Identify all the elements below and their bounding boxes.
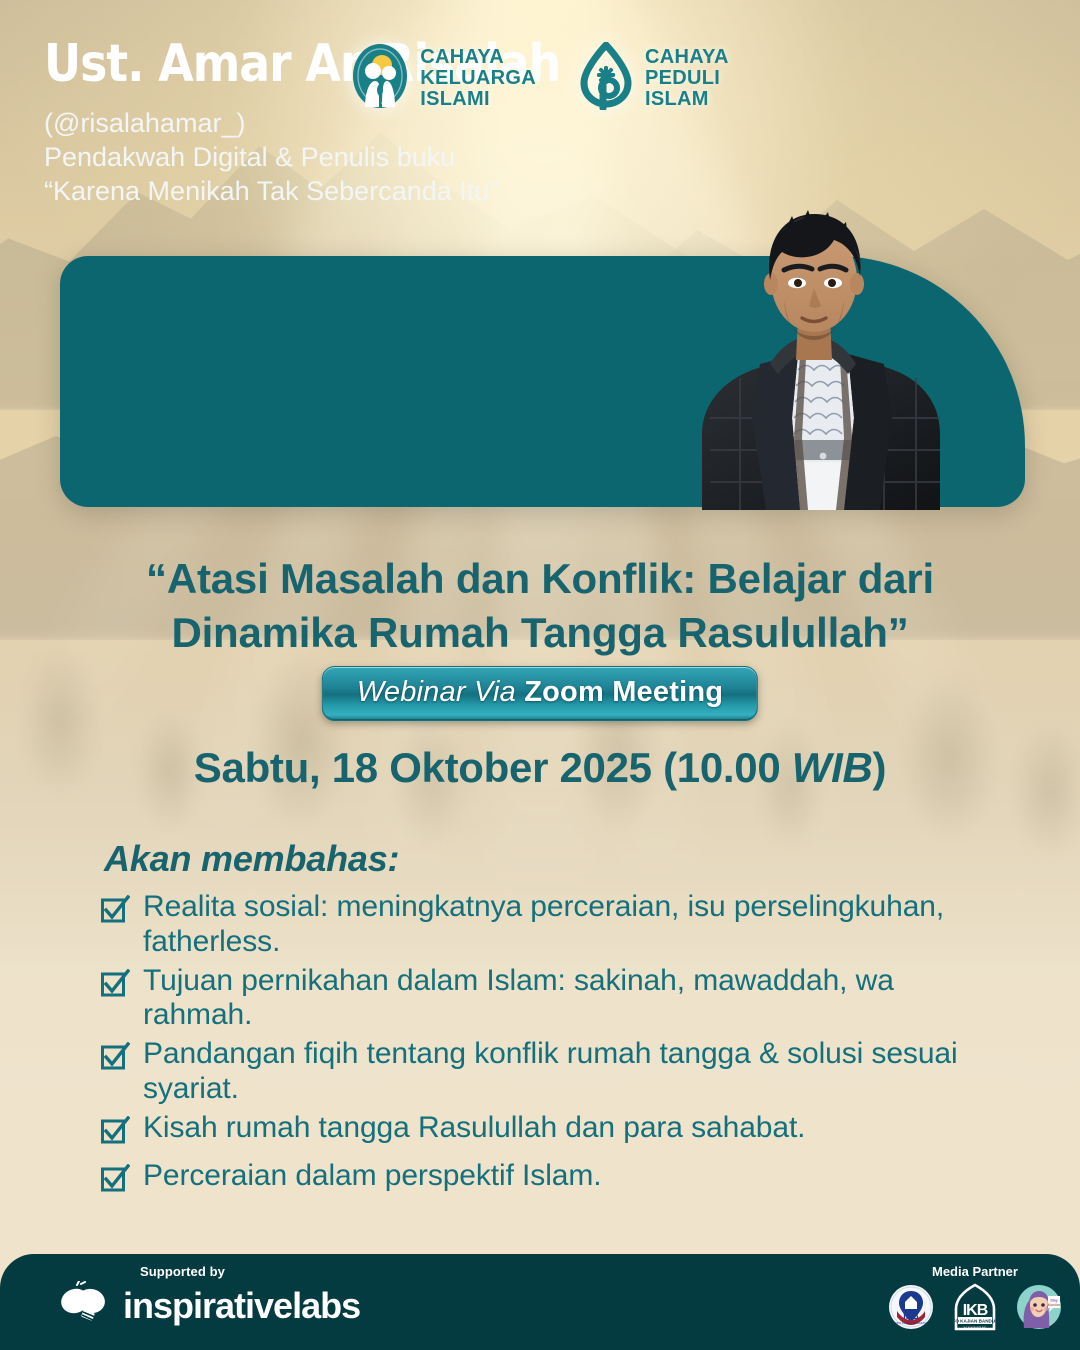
- supporter-brand: inspirativelabs: [55, 1281, 360, 1330]
- list-item: Perceraian dalam perspektif Islam.: [100, 1159, 1010, 1203]
- checkbox-checked-icon: [100, 969, 130, 1008]
- list-item: Pandangan fiqih tentang konflik rumah ta…: [100, 1037, 1010, 1107]
- supported-by-section: Supported by inspirativelabs: [55, 1264, 360, 1330]
- media-partner-logos: IKB INFO KAJIAN BANDUNG IKB INFO KAJIAN …: [888, 1283, 1062, 1336]
- checkbox-checked-icon: [100, 895, 130, 934]
- speaker-book-title: “Karena Menikah Tak Sebercanda Itu”: [44, 174, 644, 208]
- svg-text:IKB: IKB: [963, 1302, 988, 1319]
- agenda-heading: Akan membahas:: [104, 838, 399, 880]
- list-item: Tujuan pernikahan dalam Islam: sakinah, …: [100, 964, 1010, 1034]
- speaker-details: (@risalahamar_) Pendakwah Digital & Penu…: [44, 106, 644, 208]
- poster-root: CAHAYA KELUARGA ISLAMI: [0, 0, 1080, 1350]
- agenda-item-text: Kisah rumah tangga Rasulullah dan para s…: [143, 1111, 1010, 1146]
- header-logos: CAHAYA KELUARGA ISLAMI: [0, 42, 1080, 115]
- svg-text:KAJIAN BANDUNG: KAJIAN BANDUNG: [964, 1325, 987, 1329]
- media-partner-label: Media Partner: [932, 1264, 1018, 1279]
- supporter-name: inspirativelabs: [123, 1285, 360, 1327]
- webinar-platform-prefix: Webinar Via: [357, 676, 524, 708]
- svg-text:INFO KAJIAN BANDUNG: INFO KAJIAN BANDUNG: [948, 1319, 1003, 1324]
- logo-cahaya-keluarga-islami: CAHAYA KELUARGA ISLAMI: [351, 43, 536, 114]
- info-kajian-bandung-logo-icon: IKB INFO KAJIAN BANDUNG KAJIAN BANDUNG: [946, 1283, 1004, 1336]
- webinar-platform-name: Zoom Meeting: [524, 676, 723, 708]
- event-timezone: WIB: [792, 744, 873, 791]
- event-date-suffix: ): [873, 744, 887, 791]
- agenda-item-text: Perceraian dalam perspektif Islam.: [143, 1159, 1010, 1194]
- logo-cahaya-peduli-islam-text: CAHAYA PEDULI ISLAM: [645, 47, 729, 109]
- logo-line-2: KELUARGA: [420, 68, 536, 89]
- media-partner-section: Media Partner IKB INFO KAJIAN BANDUNG: [888, 1264, 1062, 1336]
- agenda-item-text: Tujuan pernikahan dalam Islam: sakinah, …: [143, 964, 1010, 1034]
- logo-cahaya-keluarga-islami-text: CAHAYA KELUARGA ISLAMI: [420, 47, 536, 109]
- svg-text:Stay: Stay: [1050, 1299, 1058, 1303]
- supported-by-label: Supported by: [140, 1264, 225, 1279]
- agenda-list: Realita sosial: meningkatnya perceraian,…: [100, 890, 1010, 1206]
- list-item: Kisah rumah tangga Rasulullah dan para s…: [100, 1111, 1010, 1155]
- checkbox-checked-icon: [100, 1042, 130, 1081]
- logo-cahaya-peduli-islam: CAHAYA PEDULI ISLAM: [578, 42, 729, 115]
- logo-line-2: PEDULI: [645, 68, 729, 89]
- svg-text:IKB: IKB: [903, 1311, 919, 1321]
- list-item: Realita sosial: meningkatnya perceraian,…: [100, 890, 1010, 960]
- webinar-platform-button[interactable]: Webinar Via Zoom Meeting: [322, 666, 758, 721]
- logo-line-3: ISLAMI: [420, 89, 536, 110]
- logo-line-1: CAHAYA: [645, 47, 729, 68]
- speaker-role: Pendakwah Digital & Penulis buku: [44, 140, 644, 174]
- cahaya-peduli-islam-logo-icon: [578, 42, 634, 115]
- svg-text:Muslim: Muslim: [1048, 1303, 1060, 1307]
- agenda-item-text: Realita sosial: meningkatnya perceraian,…: [143, 890, 1010, 960]
- speaker-photo: [648, 188, 978, 510]
- ikb-badge-logo-icon: IKB INFO KAJIAN BANDUNG: [888, 1284, 934, 1335]
- footer-bar: Supported by inspirativelabs: [0, 1254, 1080, 1350]
- logo-line-3: ISLAM: [645, 89, 729, 110]
- agenda-item-text: Pandangan fiqih tentang konflik rumah ta…: [143, 1037, 1010, 1107]
- event-date-text: Sabtu, 18 Oktober 2025 (10.00: [194, 744, 792, 791]
- checkbox-checked-icon: [100, 1116, 130, 1155]
- lightbulb-icon: [55, 1281, 111, 1330]
- svg-text:INFO KAJIAN BANDUNG: INFO KAJIAN BANDUNG: [894, 1321, 929, 1325]
- logo-line-1: CAHAYA: [420, 47, 536, 68]
- checkbox-checked-icon: [100, 1164, 130, 1203]
- cahaya-keluarga-islami-logo-icon: [351, 43, 409, 114]
- page-title-line-1: “Atasi Masalah dan Konflik: Belajar dari: [80, 552, 1000, 606]
- hijab-character-logo-icon: Stay Muslim: [1016, 1284, 1062, 1335]
- page-title: “Atasi Masalah dan Konflik: Belajar dari…: [0, 552, 1080, 660]
- event-date: Sabtu, 18 Oktober 2025 (10.00 WIB): [0, 744, 1080, 792]
- page-title-line-2: Dinamika Rumah Tangga Rasulullah”: [80, 606, 1000, 660]
